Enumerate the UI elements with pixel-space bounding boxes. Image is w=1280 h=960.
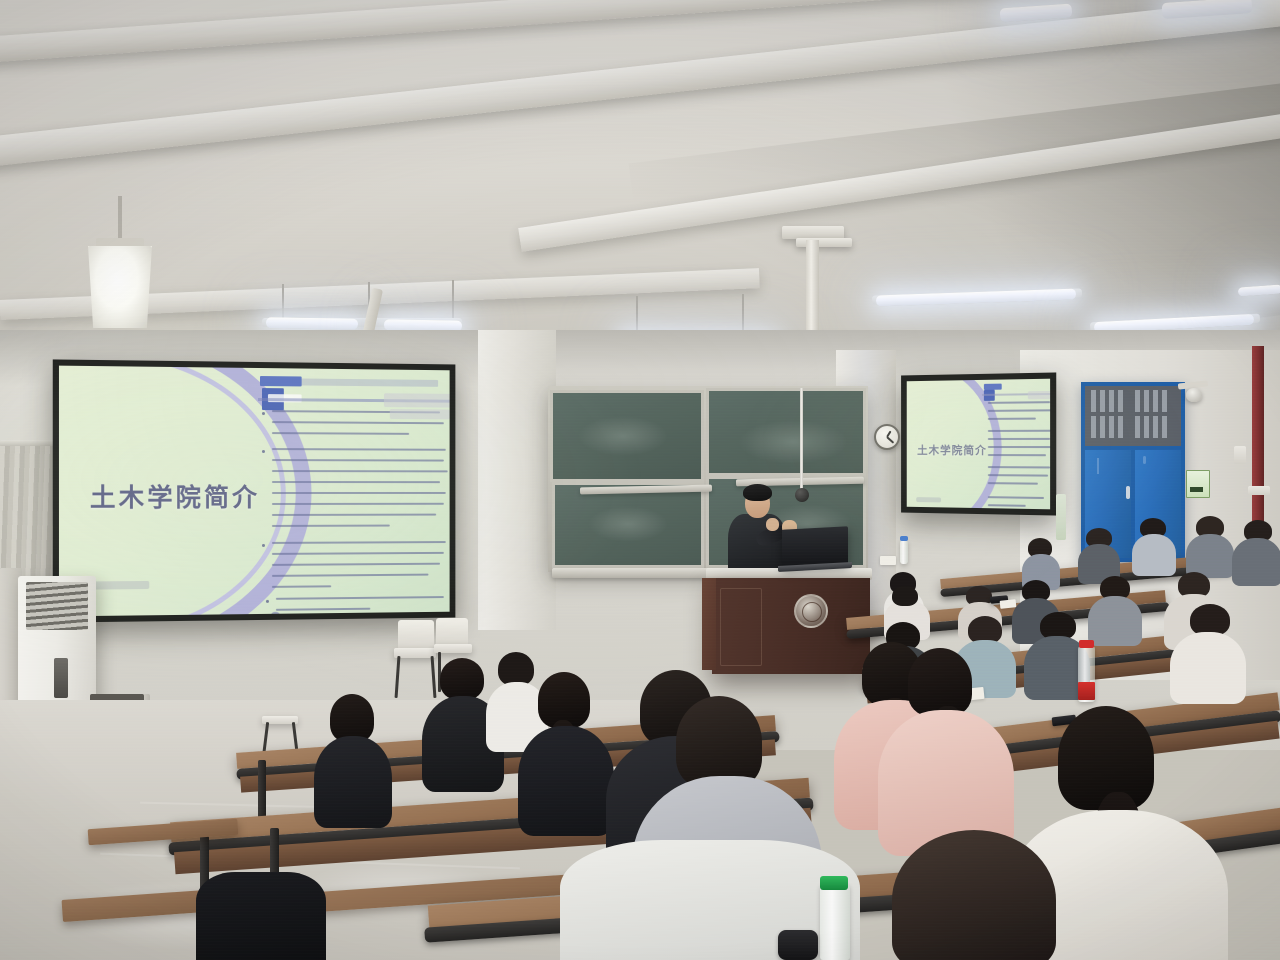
audience-hair — [892, 830, 1056, 960]
window-curtain — [0, 446, 60, 586]
slide-text-line — [272, 585, 331, 588]
slide-text-line — [988, 430, 1050, 432]
slide-text-line — [276, 608, 370, 611]
side-projection-screen[interactable]: 土木学院简介 — [901, 372, 1056, 515]
emergency-exit-sign — [1186, 470, 1210, 498]
slide-text-line — [272, 421, 444, 424]
water-bottle[interactable] — [820, 884, 850, 960]
side-slide-title: 土木学院简介 — [917, 442, 987, 458]
side-screen-surface: 土木学院简介 — [907, 379, 1050, 510]
slide-footer-bar — [916, 497, 941, 502]
door-highlight — [1143, 456, 1146, 464]
bottle-cap — [900, 536, 908, 541]
slide-text-line — [272, 481, 440, 483]
main-projection-screen[interactable]: 土木学院简介 — [53, 359, 456, 622]
hanging-microphone — [795, 488, 809, 502]
slide-glare-patch — [384, 393, 450, 407]
folding-chair-back[interactable] — [436, 618, 468, 646]
wall-clock — [874, 424, 900, 450]
slide-glare-patch — [1028, 391, 1050, 400]
grille-bar — [1118, 416, 1123, 438]
slide-text-line — [988, 418, 1036, 420]
slide-bullet — [262, 412, 265, 415]
slide-text-line — [988, 466, 1050, 468]
bottle-label — [1078, 682, 1095, 700]
audience-torso — [1088, 596, 1142, 646]
crest-ring — [802, 602, 822, 622]
slide-text-line — [988, 454, 1046, 456]
slide-title: 土木学院简介 — [90, 478, 260, 515]
grille-bar — [1100, 390, 1105, 412]
slide-bottom-endcap — [270, 612, 281, 617]
slide-text-line — [988, 446, 1050, 448]
clock-minute-hand — [886, 436, 894, 443]
slide-text-line — [988, 504, 1026, 507]
grille-bar — [1144, 390, 1149, 412]
slide-bottom-divider — [278, 615, 450, 617]
slide-text-line — [272, 514, 436, 516]
presenter-hand — [766, 518, 779, 531]
fluorescent-tube-light — [266, 317, 358, 330]
grille-bar — [1153, 390, 1158, 412]
light-suspension-wire — [282, 284, 284, 320]
slide-text-line — [988, 496, 1044, 499]
university-crest — [794, 594, 828, 628]
audience-torso — [1170, 632, 1246, 704]
slide-text-line — [988, 482, 1038, 485]
slide-text-line — [272, 503, 444, 505]
slide-text-line — [272, 574, 429, 577]
hanging-microphone-cord — [800, 388, 803, 490]
grille-bar — [1144, 416, 1149, 438]
grille-bar — [1118, 390, 1123, 412]
slide-bullet — [262, 450, 265, 453]
podium-side-panel — [702, 578, 716, 670]
paper-sheet — [1000, 599, 1017, 609]
audience-hair — [892, 586, 918, 606]
wall-switch-plate[interactable] — [1234, 446, 1246, 464]
chalk-smudge — [738, 420, 848, 464]
slide-header-chip — [260, 376, 302, 386]
slide-text-line — [988, 409, 1050, 412]
exit-sign-bar — [1190, 487, 1203, 492]
slide-text-line — [272, 525, 390, 527]
grille-bar — [1162, 416, 1167, 438]
slide-text-line — [272, 541, 446, 544]
bottle-cap — [820, 876, 848, 890]
chalk-smudge — [588, 506, 668, 542]
air-conditioner-vent — [26, 582, 88, 630]
slide-text-line — [272, 552, 444, 555]
projector-mount-arm — [796, 238, 852, 247]
folding-chair-back[interactable] — [398, 620, 434, 650]
projector-pole — [806, 240, 819, 340]
audience-torso — [1132, 534, 1176, 576]
slide-bullet — [262, 544, 265, 547]
slide-text-line — [272, 492, 446, 494]
chalk-smudge — [578, 416, 668, 456]
water-bottle[interactable] — [900, 540, 908, 564]
audience-hair — [908, 648, 972, 716]
slide-text-line — [272, 563, 440, 566]
audience-torso — [196, 872, 326, 960]
presenter-hair — [743, 484, 772, 501]
door-highlight — [1097, 458, 1099, 474]
audience-torso — [518, 726, 614, 836]
slide-text-line — [988, 401, 1050, 404]
security-camera — [1186, 388, 1202, 402]
audience-torso — [1232, 538, 1280, 586]
door-handle[interactable] — [1126, 486, 1130, 499]
grille-bar — [1109, 390, 1114, 412]
light-suspension-wire — [452, 280, 454, 320]
audience-hair — [676, 696, 762, 788]
grille-bar — [1153, 416, 1158, 438]
grille-bar — [1162, 390, 1167, 412]
grille-bar — [1100, 416, 1105, 438]
desk-papers — [880, 556, 896, 565]
grille-bar — [1135, 390, 1140, 412]
grille-bar — [1091, 390, 1096, 412]
bottle-cap — [1079, 640, 1094, 648]
pendant-lamp — [88, 246, 152, 328]
lecture-hall-photo: 土木学院简介 — [0, 0, 1280, 960]
wall-plate — [1248, 486, 1270, 495]
grille-bar — [1109, 416, 1114, 438]
slide-text-line — [276, 596, 444, 600]
main-screen-surface: 土木学院简介 — [59, 366, 450, 617]
grille-bar — [1135, 416, 1140, 438]
framed-notice — [1056, 494, 1066, 540]
audience-torso — [314, 736, 392, 828]
pendant-lamp-stem — [118, 196, 122, 240]
slide-text-line — [272, 470, 448, 472]
smartphone[interactable] — [778, 930, 818, 960]
audience-hair — [498, 652, 534, 686]
air-conditioner-display[interactable] — [54, 658, 68, 698]
slide-text-line — [988, 438, 1050, 440]
grille-bar — [1091, 416, 1096, 438]
podium-cabinet-door[interactable] — [720, 588, 762, 666]
slide-glare-patch — [390, 409, 450, 419]
podium-laptop[interactable] — [782, 526, 848, 567]
slide-bullet — [266, 600, 269, 603]
wall-pillar — [478, 330, 556, 630]
audience-hair — [330, 694, 374, 742]
audience-hair — [440, 658, 484, 700]
